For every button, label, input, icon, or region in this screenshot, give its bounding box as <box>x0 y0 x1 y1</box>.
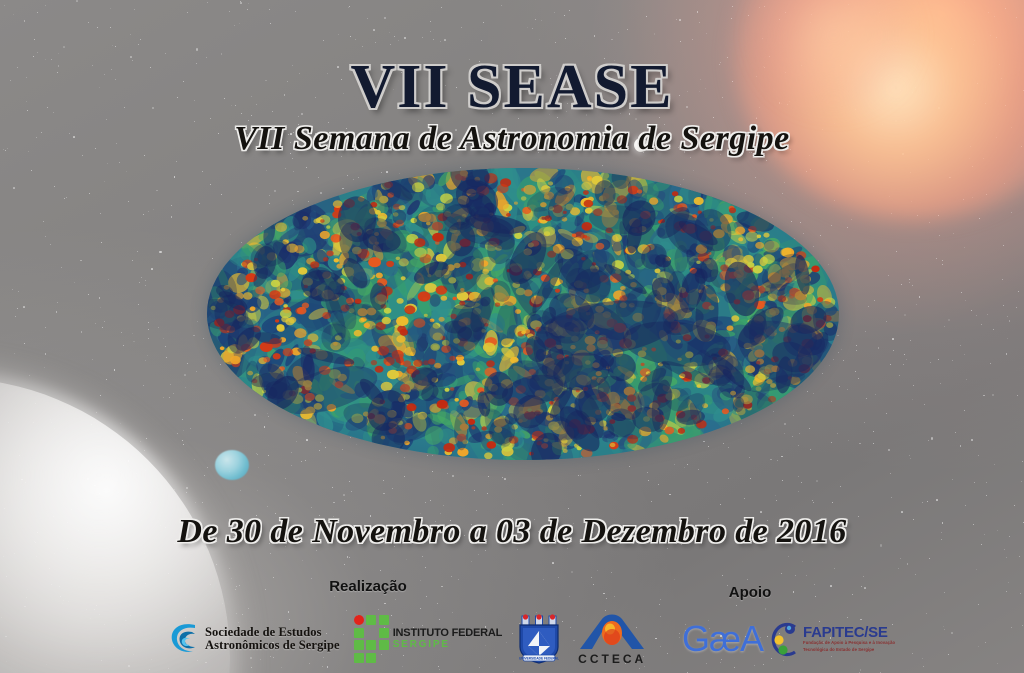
page-title: VII SEASE <box>0 56 1024 118</box>
realizacao-label: Realização <box>268 578 468 595</box>
ufs-shield-icon: UNIVERSIDADE FEDERAL <box>516 614 562 664</box>
fapitec-wordmark: FAPITEC/SE Fundação de Apoio à Pesquisa … <box>803 625 895 653</box>
logo-ccteca[interactable]: CCTECA <box>576 613 648 666</box>
ccteca-wordmark: CCTECA <box>578 652 646 666</box>
cmb-map <box>207 168 839 460</box>
fapitec-sub-line-1: Fundação de Apoio à Pesquisa e à Inovaçã… <box>803 640 895 646</box>
fapitec-main-text: FAPITEC/SE <box>803 625 895 640</box>
if-line-2: SERGIPE <box>393 640 502 651</box>
sociedade-wordmark: Sociedade de Estudos Astronômicos de Ser… <box>205 626 340 652</box>
if-square-grid-icon <box>354 615 389 663</box>
fapitec-circle-icon <box>767 619 801 659</box>
logo-gaea[interactable]: GæA <box>682 621 763 657</box>
event-dates: De 30 de Novembro a 03 de Dezembro de 20… <box>0 513 1024 551</box>
realizacao-logo-row: Sociedade de Estudos Astronômicos de Ser… <box>168 608 568 670</box>
apoio-label: Apoio <box>690 584 810 601</box>
sociedade-swirl-icon <box>168 619 202 659</box>
cmb-ellipse <box>207 168 839 460</box>
logo-fapitec-se[interactable]: FAPITEC/SE Fundação de Apoio à Pesquisa … <box>767 619 895 659</box>
fapitec-sub-line-2: Tecnológica do Estado de Sergipe <box>803 647 895 653</box>
sociedade-line-2: Astronômicos de Sergipe <box>205 639 340 652</box>
cmb-canvas <box>207 168 839 460</box>
ccteca-arch-icon <box>576 613 648 651</box>
if-wordmark: INSTITUTO FEDERAL SERGIPE <box>393 628 502 650</box>
poster-canvas: VII SEASE VII Semana de Astronomia de Se… <box>0 0 1024 673</box>
logo-instituto-federal-sergipe[interactable]: INSTITUTO FEDERAL SERGIPE <box>354 615 502 663</box>
apoio-logo-row: GæA FAPITEC/SE Fundação de Apoio à Pesqu… <box>682 614 912 664</box>
if-line-1: INSTITUTO FEDERAL <box>393 628 502 640</box>
svg-text:UNIVERSIDADE FEDERAL: UNIVERSIDADE FEDERAL <box>519 657 559 661</box>
logo-sociedade-estudos-astronomicos[interactable]: Sociedade de Estudos Astronômicos de Ser… <box>168 619 340 659</box>
logo-universidade-federal-sergipe[interactable]: UNIVERSIDADE FEDERAL <box>516 614 562 664</box>
gaea-wordmark: GæA <box>682 621 763 657</box>
page-subtitle: VII Semana de Astronomia de Sergipe <box>0 120 1024 158</box>
